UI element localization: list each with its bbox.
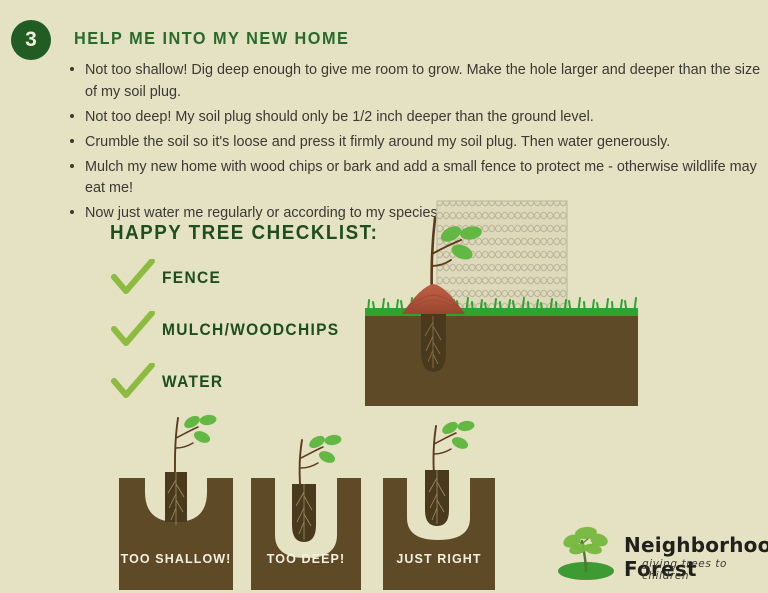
wire-mesh-fence bbox=[437, 201, 567, 313]
bullet-dot-icon bbox=[70, 139, 74, 143]
instruction-item: Crumble the soil so it's loose and press… bbox=[66, 132, 766, 154]
checklist-item-label: FENCE bbox=[162, 269, 221, 288]
hole-label-0: TOO SHALLOW! bbox=[121, 552, 232, 566]
instruction-item: Mulch my new home with wood chips or bar… bbox=[66, 157, 766, 201]
tree-logo-icon bbox=[556, 525, 624, 583]
neighborhood-forest-logo: Neighborhood Forest giving trees to chil… bbox=[556, 525, 761, 585]
page-title: HELP ME INTO MY NEW HOME bbox=[74, 28, 349, 49]
checklist-item[interactable]: WATER bbox=[110, 363, 396, 401]
check-icon bbox=[110, 363, 156, 401]
happy-tree-checklist: HAPPY TREE CHECKLIST: FENCEMULCH/WOODCHI… bbox=[110, 222, 396, 401]
checklist-item[interactable]: FENCE bbox=[110, 259, 396, 297]
header: 3 HELP ME INTO MY NEW HOME bbox=[0, 0, 768, 62]
hole-label-1: TOO DEEP! bbox=[267, 552, 345, 566]
bullet-dot-icon bbox=[70, 114, 74, 118]
instruction-text: Mulch my new home with wood chips or bar… bbox=[85, 159, 757, 197]
checklist-item[interactable]: MULCH/WOODCHIPS bbox=[110, 311, 396, 349]
checklist-rows: FENCEMULCH/WOODCHIPSWATER bbox=[110, 259, 396, 401]
checklist-item-label: MULCH/WOODCHIPS bbox=[162, 321, 339, 340]
bullet-dot-icon bbox=[70, 67, 74, 71]
infographic-page: 3 HELP ME INTO MY NEW HOME Not too shall… bbox=[0, 0, 768, 593]
step-number-badge: 3 bbox=[11, 20, 51, 60]
logo-tagline: giving trees to children bbox=[642, 558, 761, 582]
hole-diagram-too-deep: TOO DEEP! bbox=[251, 433, 361, 590]
check-icon bbox=[110, 311, 156, 349]
instruction-item: Not too shallow! Dig deep enough to give… bbox=[66, 60, 766, 104]
hole-diagram-just-right: JUST RIGHT bbox=[383, 419, 495, 590]
bullet-dot-icon bbox=[70, 164, 74, 168]
root-ball bbox=[421, 314, 446, 372]
bullet-dot-icon bbox=[70, 210, 74, 214]
hole-label-2: JUST RIGHT bbox=[396, 552, 481, 566]
instruction-text: Crumble the soil so it's loose and press… bbox=[85, 134, 670, 150]
checklist-title: HAPPY TREE CHECKLIST: bbox=[110, 222, 378, 245]
check-icon bbox=[110, 259, 156, 297]
instruction-text: Not too shallow! Dig deep enough to give… bbox=[85, 62, 760, 100]
hole-diagram-too-shallow: TOO SHALLOW! bbox=[119, 413, 233, 590]
step-number-text: 3 bbox=[25, 28, 37, 52]
soil-cross-section bbox=[365, 313, 638, 406]
instruction-text: Not too deep! My soil plug should only b… bbox=[85, 109, 594, 125]
checklist-item-label: WATER bbox=[162, 373, 223, 392]
instruction-item: Not too deep! My soil plug should only b… bbox=[66, 107, 766, 129]
planting-scene-illustration bbox=[365, 196, 638, 406]
